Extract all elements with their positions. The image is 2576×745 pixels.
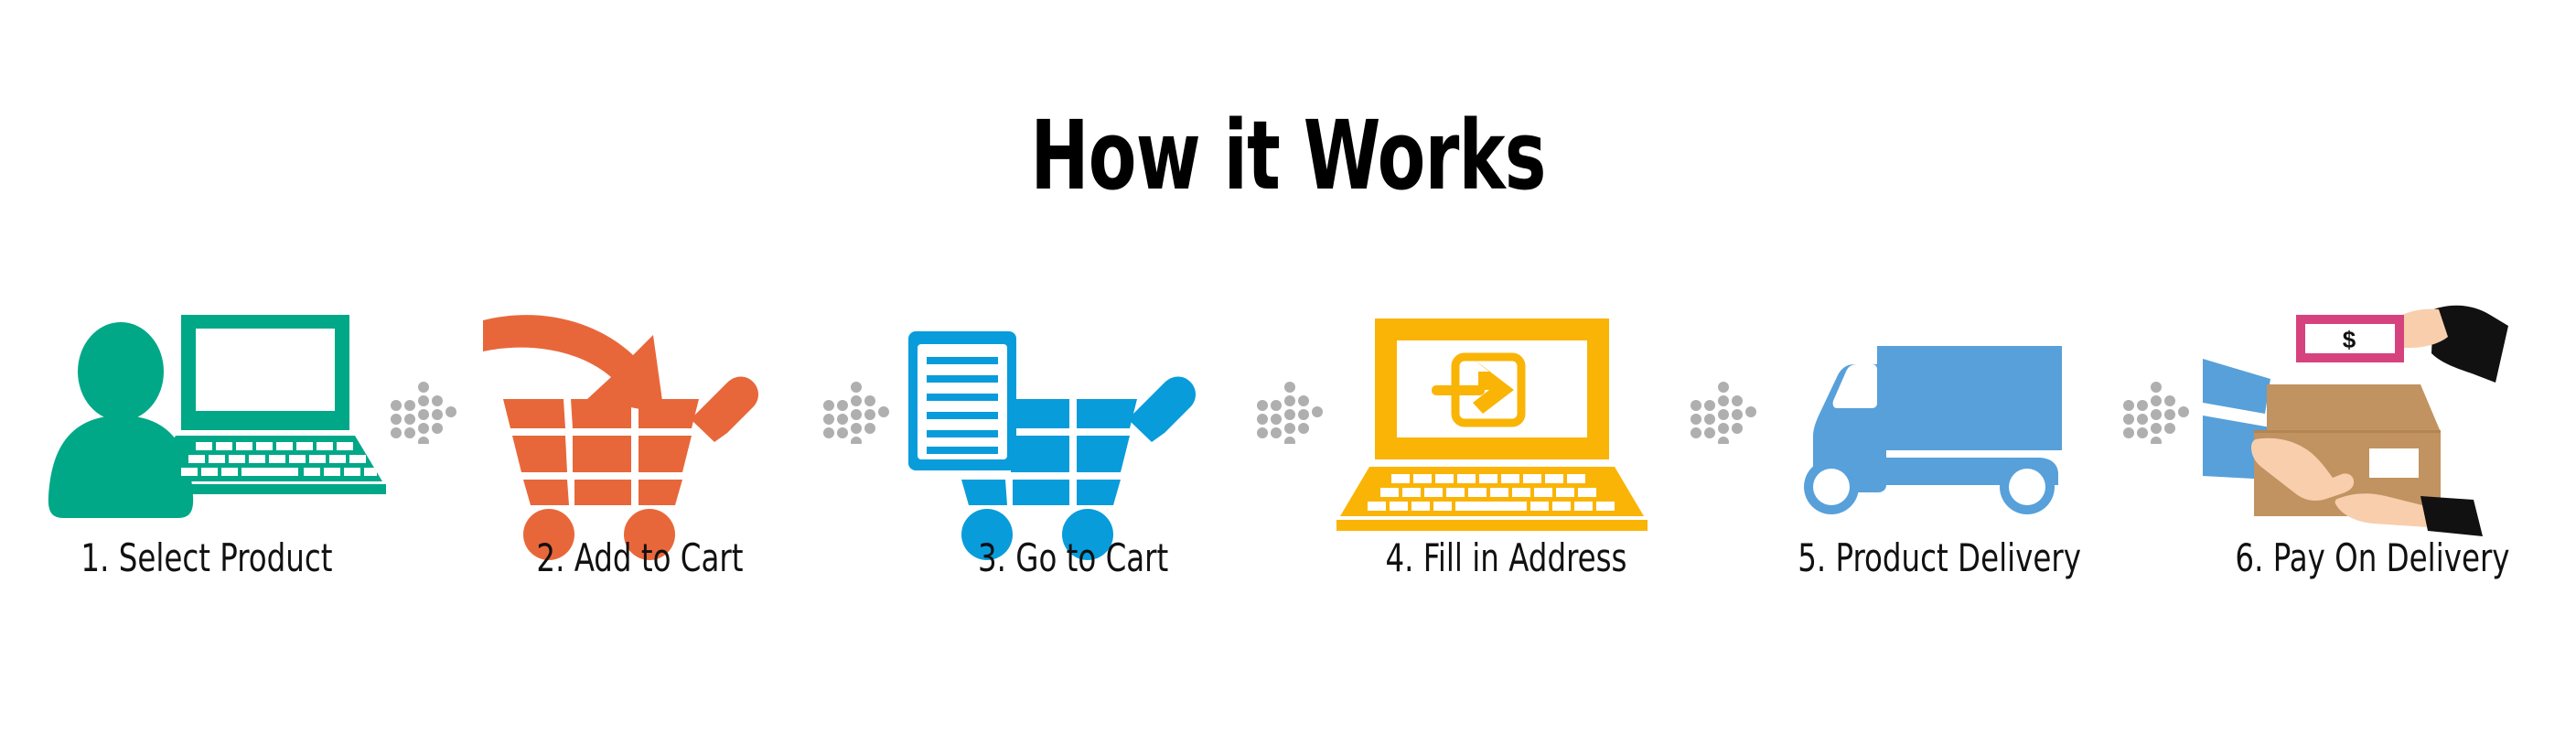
person-with-laptop-icon — [37, 302, 377, 522]
step-4-label: 4. Fill in Address — [1386, 538, 1627, 578]
step-2-label: 2. Add to Cart — [537, 538, 744, 578]
step-6-artwork: $ — [2203, 302, 2543, 522]
step-5-artwork — [1769, 302, 2109, 522]
dotted-arrow-right-icon — [818, 380, 895, 444]
step-2-artwork — [470, 302, 810, 522]
step-1-artwork — [37, 302, 377, 522]
steps-container: 1. Select Product — [37, 302, 2543, 632]
page-title: How it Works — [231, 108, 2344, 203]
infographic-root: How it Works — [0, 0, 2576, 745]
sleeve-black-upper — [2431, 306, 2508, 383]
step-6-pay-on-delivery[interactable]: $ — [2203, 302, 2543, 632]
laptop-with-login-arrow-icon — [1336, 302, 1677, 522]
banknote-symbol-text: $ — [2343, 326, 2356, 353]
step-5-product-delivery[interactable]: 5. Product Delivery — [1769, 302, 2109, 632]
separator-dotted-arrow-1 — [385, 302, 462, 522]
separator-dotted-arrow-3 — [1251, 302, 1328, 522]
box-top — [2267, 384, 2441, 432]
shopping-cart-with-arrow-icon — [470, 302, 810, 522]
delivery-truck-icon — [1769, 302, 2109, 522]
step-5-label: 5. Product Delivery — [1798, 538, 2081, 578]
dotted-arrow-right-icon — [385, 380, 462, 444]
hands-exchanging-box-and-cash-icon: $ — [2203, 302, 2543, 522]
separator-dotted-arrow-5 — [2118, 302, 2195, 522]
step-3-artwork — [903, 302, 1243, 522]
dotted-arrow-right-icon — [1251, 380, 1328, 444]
separator-dotted-arrow-2 — [818, 302, 895, 522]
box-label — [2369, 448, 2419, 478]
step-4-fill-in-address[interactable]: 4. Fill in Address — [1336, 302, 1677, 632]
step-1-label: 1. Select Product — [80, 538, 332, 578]
step-4-artwork — [1336, 302, 1677, 522]
cart-with-document-icon — [903, 302, 1243, 522]
step-6-label: 6. Pay On Delivery — [2236, 538, 2510, 578]
step-1-select-product[interactable]: 1. Select Product — [37, 302, 377, 632]
step-3-go-to-cart[interactable]: 3. Go to Cart — [903, 302, 1243, 632]
separator-dotted-arrow-4 — [1685, 302, 1762, 522]
sleeve-blue-upper — [2203, 359, 2270, 414]
dotted-arrow-right-icon — [1685, 380, 1762, 444]
dotted-arrow-right-icon — [2118, 380, 2195, 444]
sleeve-black-lower — [2420, 496, 2483, 536]
step-3-label: 3. Go to Cart — [978, 538, 1168, 578]
step-2-add-to-cart[interactable]: 2. Add to Cart — [470, 302, 810, 632]
